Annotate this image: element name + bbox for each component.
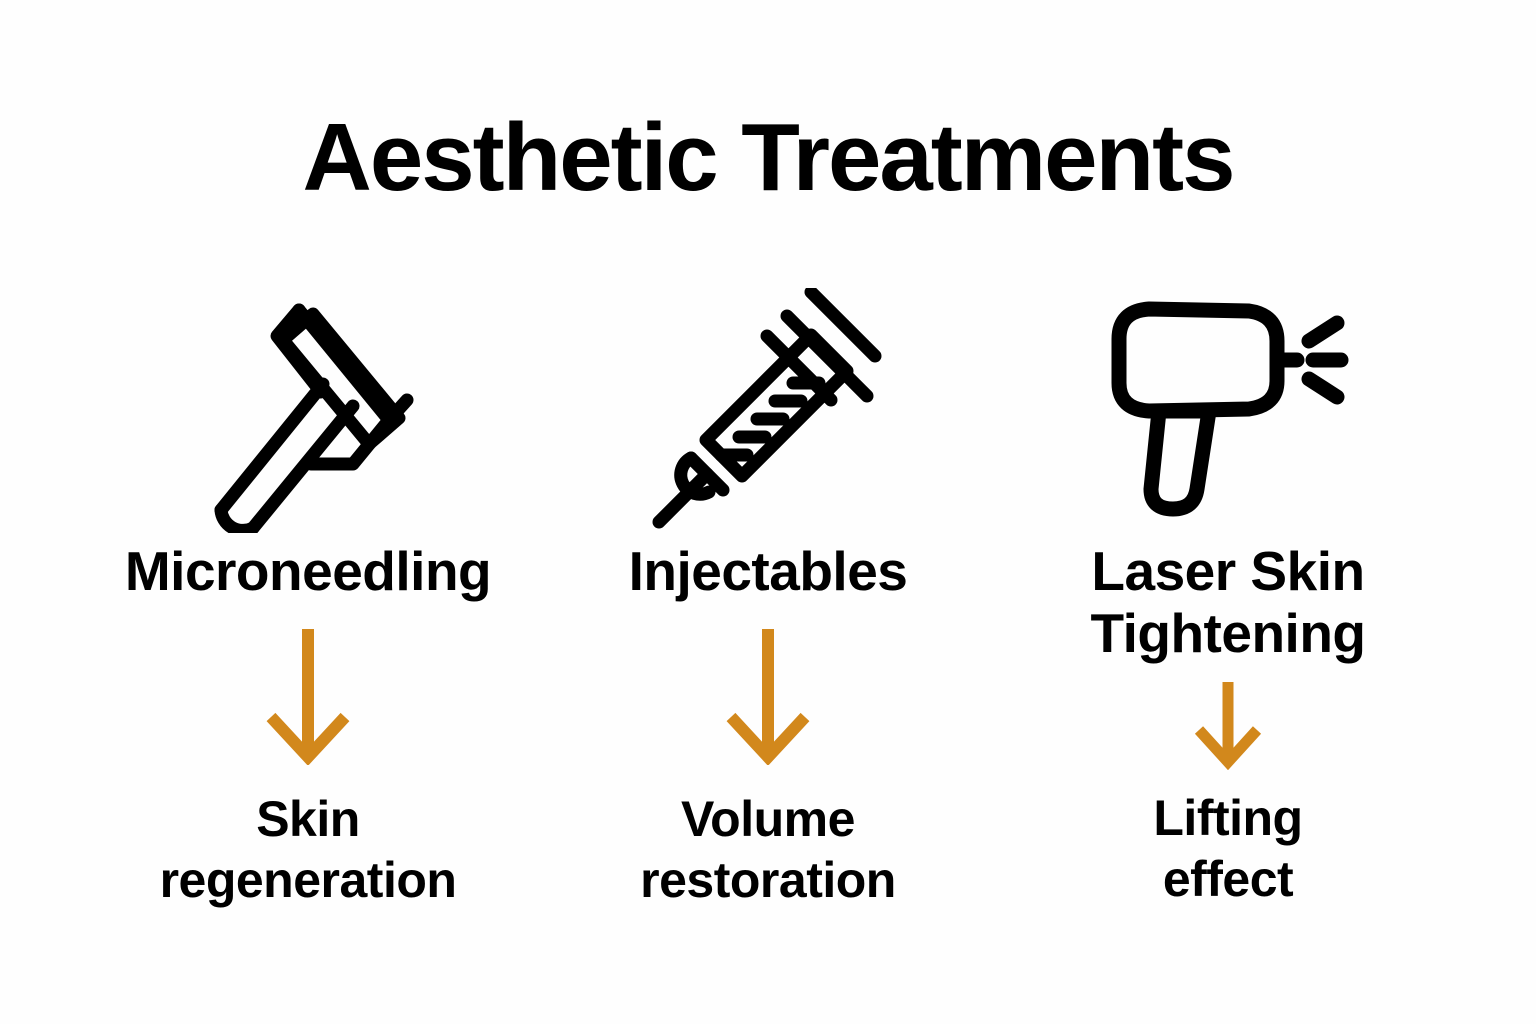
- outcome-label-line: effect: [1153, 849, 1302, 910]
- outcome-label-line: restoration: [640, 850, 896, 911]
- arrow-laser-skin-tightening: [1188, 678, 1268, 770]
- treatment-label-line: Microneedling: [125, 541, 491, 603]
- arrow-injectables: [723, 625, 813, 765]
- treatment-columns: Microneedling Skin regeneration: [0, 285, 1536, 911]
- treatment-label-line: Tightening: [1090, 603, 1365, 665]
- outcome-label-volume-restoration: Volume restoration: [640, 789, 896, 911]
- treatment-label-microneedling: Microneedling: [125, 541, 491, 603]
- outcome-label-line: Skin: [160, 789, 457, 850]
- treatment-column-laser-skin-tightening: Laser Skin Tightening Lifting effect: [998, 285, 1458, 910]
- arrow-microneedling: [263, 625, 353, 765]
- treatment-label-injectables: Injectables: [629, 541, 908, 603]
- treatment-column-injectables: Injectables Volume restoration: [538, 285, 998, 911]
- derma-roller-icon: [178, 285, 438, 535]
- syringe-icon: [638, 285, 898, 535]
- treatment-label-line: Injectables: [629, 541, 908, 603]
- outcome-label-skin-regeneration: Skin regeneration: [160, 789, 457, 911]
- treatment-label-laser-skin-tightening: Laser Skin Tightening: [1090, 541, 1365, 664]
- treatment-label-line: Laser Skin: [1090, 541, 1365, 603]
- outcome-label-line: Lifting: [1153, 788, 1302, 849]
- page-title: Aesthetic Treatments: [0, 108, 1536, 209]
- treatment-column-microneedling: Microneedling Skin regeneration: [78, 285, 538, 911]
- outcome-label-lifting-effect: Lifting effect: [1153, 788, 1302, 910]
- laser-device-icon: [1098, 285, 1358, 535]
- outcome-label-line: regeneration: [160, 850, 457, 911]
- outcome-label-line: Volume: [640, 789, 896, 850]
- infographic-canvas: Aesthetic Treatments Micro: [0, 0, 1536, 1024]
